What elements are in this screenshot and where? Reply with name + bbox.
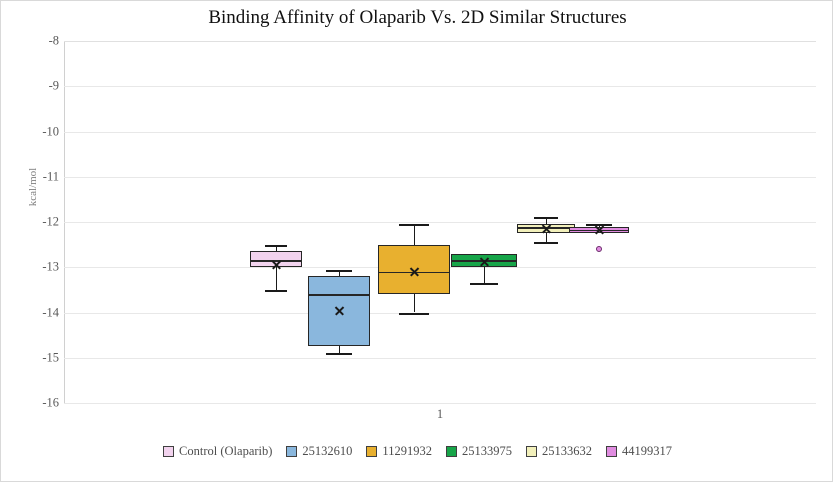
x-axis-label: 1 <box>64 407 816 422</box>
mean-marker <box>541 223 552 234</box>
legend-swatch-icon <box>366 446 377 457</box>
legend-swatch-icon <box>446 446 457 457</box>
lower-whisker-cap <box>265 290 287 292</box>
gridline <box>64 403 816 404</box>
lower-whisker <box>414 294 415 312</box>
legend-label: 25133632 <box>542 444 592 459</box>
legend-swatch-icon <box>526 446 537 457</box>
legend-item-2[interactable]: 11291932 <box>366 444 432 459</box>
legend-swatch-icon <box>286 446 297 457</box>
y-tick-label: -12 <box>7 215 59 230</box>
legend-label: 44199317 <box>622 444 672 459</box>
boxplot-25132610[interactable] <box>308 41 370 403</box>
lower-whisker <box>484 267 485 283</box>
legend-label: 25133975 <box>462 444 512 459</box>
legend-item-0[interactable]: Control (Olaparib) <box>163 444 272 459</box>
mean-marker <box>409 266 420 277</box>
legend-item-5[interactable]: 44199317 <box>606 444 672 459</box>
y-tick-label: -11 <box>7 169 59 184</box>
boxplot-11291932[interactable] <box>378 41 450 403</box>
legend-label: Control (Olaparib) <box>179 444 272 459</box>
legend-swatch-icon <box>163 446 174 457</box>
median-line <box>308 294 370 296</box>
y-tick-label: -9 <box>7 79 59 94</box>
mean-marker <box>334 305 345 316</box>
lower-whisker-cap <box>399 313 429 315</box>
lower-whisker-cap <box>470 283 498 285</box>
upper-whisker-cap <box>326 270 352 272</box>
lower-whisker <box>339 346 340 353</box>
chart-legend: Control (Olaparib)2513261011291932251339… <box>1 444 833 459</box>
boxplot-44199317[interactable] <box>569 41 629 403</box>
upper-whisker-cap <box>399 224 429 226</box>
legend-label: 11291932 <box>382 444 432 459</box>
boxplot-25133975[interactable] <box>451 41 517 403</box>
upper-whisker-cap <box>534 217 558 219</box>
y-tick-label: -13 <box>7 260 59 275</box>
chart-container: Binding Affinity of Olaparib Vs. 2D Simi… <box>0 0 833 482</box>
outlier-point <box>596 246 602 252</box>
lower-whisker-cap <box>326 353 352 355</box>
upper-whisker <box>414 224 415 244</box>
upper-whisker-cap <box>265 245 287 247</box>
y-tick-label: -14 <box>7 305 59 320</box>
boxplot-control-olaparib-[interactable] <box>250 41 302 403</box>
boxplot-25133632[interactable] <box>517 41 575 403</box>
legend-item-1[interactable]: 25132610 <box>286 444 352 459</box>
y-tick-label: -16 <box>7 396 59 411</box>
legend-item-4[interactable]: 25133632 <box>526 444 592 459</box>
chart-title: Binding Affinity of Olaparib Vs. 2D Simi… <box>1 7 833 29</box>
lower-whisker <box>546 233 547 242</box>
lower-whisker <box>276 267 277 290</box>
legend-item-3[interactable]: 25133975 <box>446 444 512 459</box>
y-tick-label: -8 <box>7 34 59 49</box>
legend-label: 25132610 <box>302 444 352 459</box>
y-axis-ticks: -8-9-10-11-12-13-14-15-16 <box>1 41 59 404</box>
mean-marker <box>479 256 490 267</box>
lower-whisker-cap <box>534 242 558 244</box>
plot-area <box>64 41 816 403</box>
legend-swatch-icon <box>606 446 617 457</box>
y-tick-label: -10 <box>7 124 59 139</box>
y-tick-label: -15 <box>7 350 59 365</box>
mean-marker <box>594 224 605 235</box>
mean-marker <box>271 259 282 270</box>
